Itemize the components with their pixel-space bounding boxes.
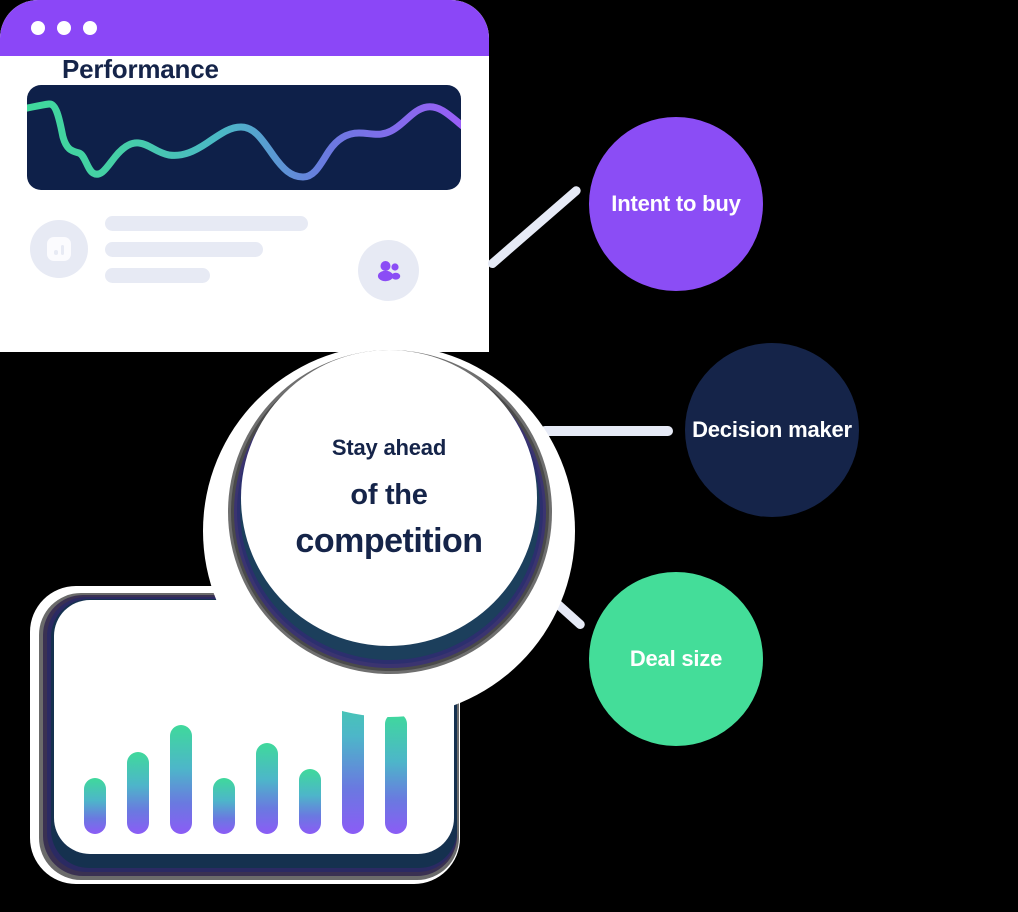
people-icon [376,260,402,282]
connector-hub-to-intent [486,184,582,270]
window-maximize-dot-icon[interactable] [83,21,97,35]
performance-bar-6 [299,769,321,834]
window-close-dot-icon[interactable] [31,21,45,35]
hub-headline-line1: Stay ahead [332,435,446,461]
placeholder-line-long [105,216,308,231]
hub-headline-line3: competition [295,522,482,561]
window-minimize-dot-icon[interactable] [57,21,71,35]
hub-headline-line2: of the [350,479,427,512]
performance-bar-1 [84,778,106,834]
performance-title: Performance [62,54,219,85]
performance-bar-3 [170,725,192,834]
performance-bar-2 [127,752,149,834]
satellite-intent-to-buy[interactable]: Intent to buy [589,117,763,291]
performance-bar-8 [385,713,407,834]
chart-line-path [27,104,461,177]
content-placeholder-lines [105,216,308,294]
chart-avatar-badge [30,220,88,278]
line-chart-svg [27,85,461,190]
satellite-deal-size[interactable]: Deal size [589,572,763,746]
performance-bar-4 [213,778,235,834]
placeholder-line-medium [105,242,263,257]
people-badge [358,240,419,301]
browser-title-bar [0,0,489,56]
placeholder-line-short [105,268,210,283]
browser-window-mockup [0,0,489,352]
window-controls [31,21,97,35]
line-chart-panel [27,85,461,190]
illustration-stage: Performance Stay ahead of the competitio… [0,0,1018,912]
bar-chart-icon [47,237,71,261]
hub-circle: Stay ahead of the competition [203,345,575,717]
performance-bar-5 [256,743,278,834]
hub-inner-surface: Stay ahead of the competition [241,350,537,646]
satellite-decision-maker[interactable]: Decision maker [685,343,859,517]
